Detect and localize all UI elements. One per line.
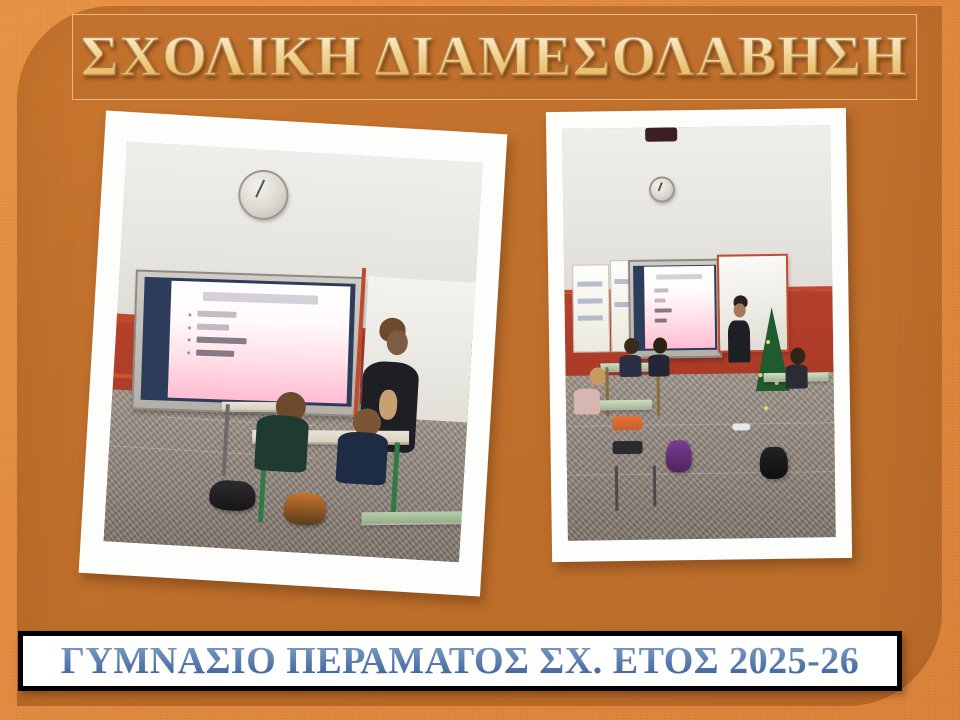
teacher-body (728, 320, 751, 362)
student-body-2 (648, 354, 669, 376)
backpack-black (209, 479, 257, 512)
slide-heading-placeholder (657, 274, 702, 280)
screen-bezel (140, 277, 355, 406)
projector-screen (131, 270, 364, 417)
foreground-desk (362, 511, 476, 525)
student-body-3 (574, 388, 600, 414)
slide-bullet-3 (654, 308, 671, 312)
teacher-shoes (732, 423, 750, 430)
student-body-4 (785, 364, 807, 388)
slide-bullet-2 (197, 324, 229, 331)
slide-bullet-4 (196, 350, 234, 357)
slide-bullet-4 (654, 318, 667, 322)
chair-seat (612, 441, 642, 454)
chair-leg (615, 466, 619, 511)
slide-heading-placeholder (203, 292, 318, 304)
projector-screen (628, 259, 722, 359)
backpack-black (760, 447, 788, 479)
photo-left (79, 110, 508, 596)
teacher-head (733, 304, 745, 318)
wall-poster-1 (572, 264, 610, 353)
slide-bullet-2 (654, 299, 665, 303)
backpack-orange (283, 492, 327, 526)
page-title: ΣΧΟΛΙΚΗ ΔΙΑΜΕΣΟΛΑΒΗΣΗ (72, 10, 917, 102)
student-body-1 (619, 354, 641, 376)
photo-left-image (104, 142, 483, 562)
chair-leg (653, 465, 657, 506)
presentation-slide: ΣΧΟΛΙΚΗ ΔΙΑΜΕΣΟΛΑΒΗΣΗ (0, 0, 960, 720)
photo-right (546, 108, 852, 562)
student-body-2 (335, 431, 388, 486)
chair-orange (612, 416, 642, 430)
photo-right-image (562, 125, 836, 541)
presentation-slide-content (644, 266, 716, 349)
slide-bullet-3 (196, 337, 246, 345)
ceiling-projector-icon (645, 127, 677, 141)
backpack-purple (666, 440, 692, 472)
slide-bullet-1 (197, 311, 237, 318)
slide-bullet-1 (654, 289, 668, 293)
student-body-1 (254, 414, 309, 473)
presentation-slide-content (168, 281, 351, 404)
screen-bezel (633, 264, 717, 350)
subtitle-text: ΓΥΜΝΑΣΙΟ ΠΕΡΑΜΑΤΟΣ ΣΧ. ΕΤΟΣ 2025-26 (18, 631, 902, 691)
